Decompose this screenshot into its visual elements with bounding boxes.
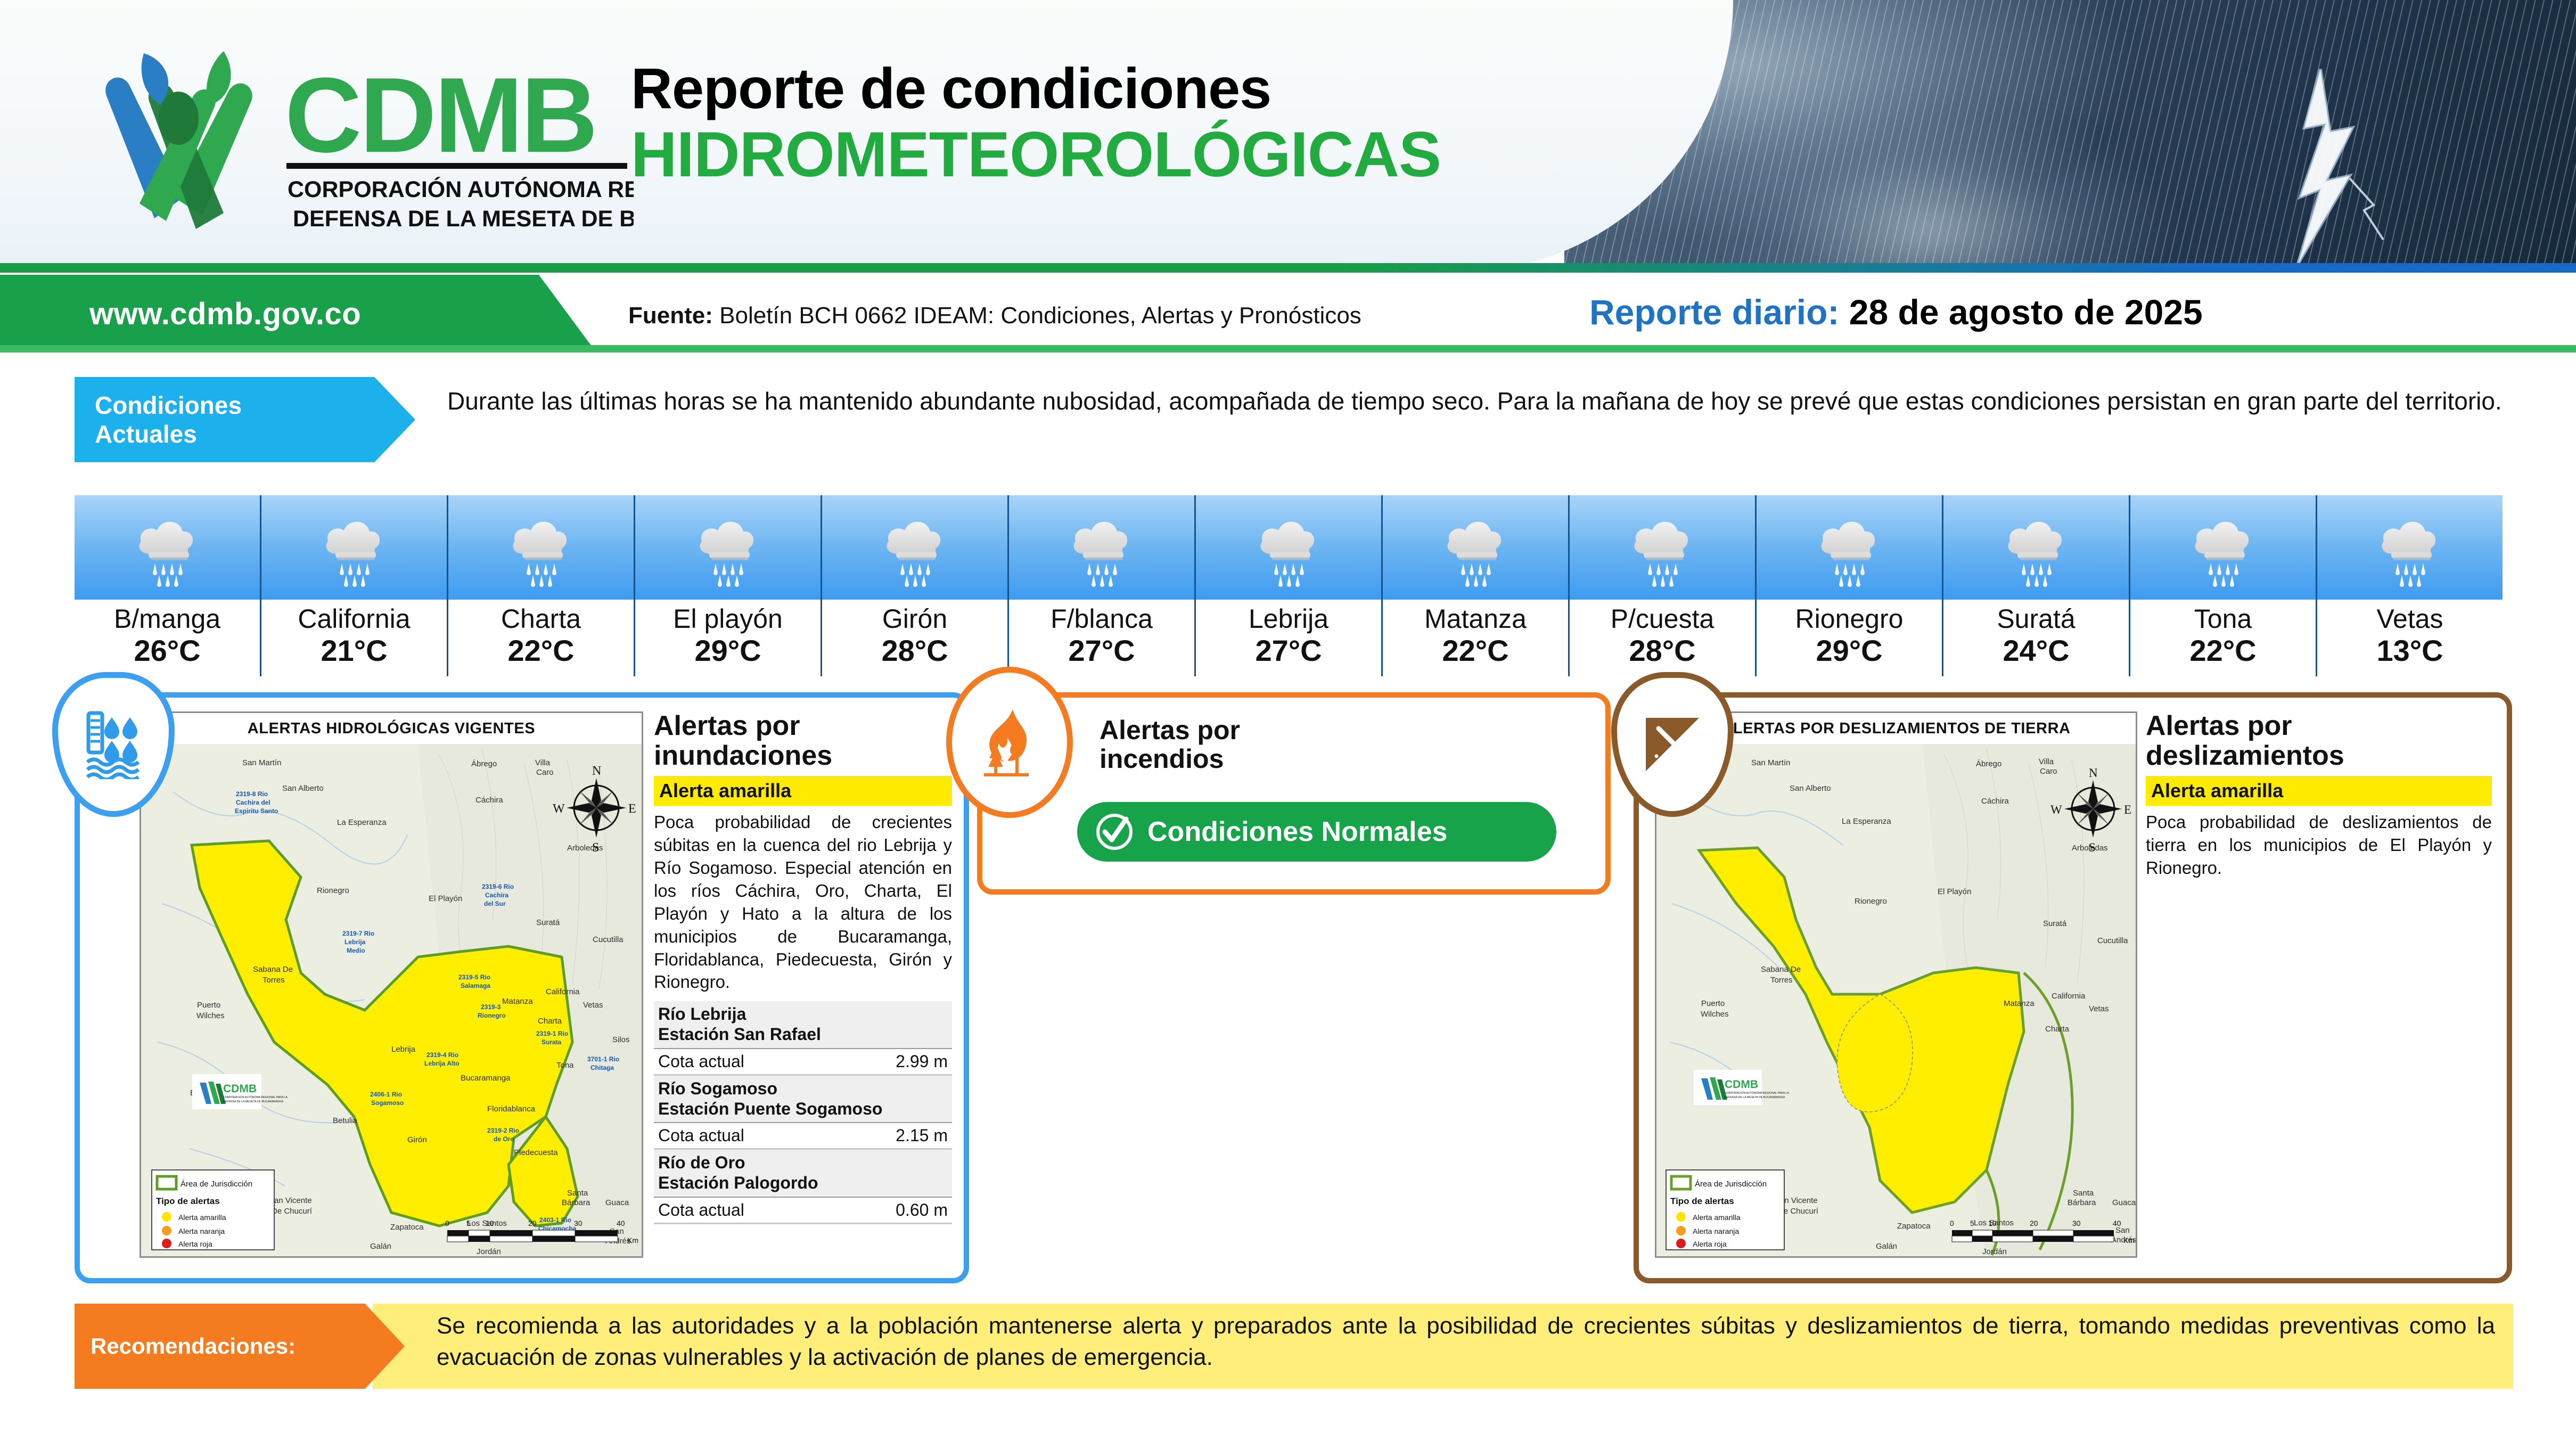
svg-text:La Esperanza: La Esperanza xyxy=(1842,817,1891,826)
weather-city-temp: 28°C xyxy=(881,635,948,667)
svg-text:Galán: Galán xyxy=(1876,1242,1897,1251)
weather-city-temp: 27°C xyxy=(1068,635,1135,667)
logo-subtitle-line1: CORPORACIÓN AUTÓNOMA REGIONAL PARA LA xyxy=(288,176,634,202)
report-date-value: 28 de agosto de 2025 xyxy=(1849,292,2203,332)
svg-text:Alerta amarilla: Alerta amarilla xyxy=(178,1213,226,1222)
svg-text:Villa: Villa xyxy=(2039,757,2054,766)
report-title-line2: HIDROMETEOROLÓGICAS xyxy=(631,121,1441,188)
svg-text:Cachira del: Cachira del xyxy=(236,799,270,806)
rain-cloud-icon xyxy=(1570,495,1755,600)
svg-text:2319-1 Rio: 2319-1 Rio xyxy=(536,1030,568,1037)
weather-cell: Tona22°C xyxy=(2130,495,2317,676)
svg-text:10: 10 xyxy=(486,1219,494,1227)
svg-text:Km: Km xyxy=(2123,1236,2135,1245)
rain-cloud-icon xyxy=(1757,495,1942,600)
svg-text:Bárbara: Bárbara xyxy=(562,1198,590,1207)
svg-text:CORPORACIÓN AUTÓNOMA REGIONAL: CORPORACIÓN AUTÓNOMA REGIONAL PARA LA xyxy=(223,1095,288,1099)
svg-text:Cucutilla: Cucutilla xyxy=(593,935,624,944)
weather-city-name: Tona xyxy=(2194,605,2252,633)
svg-text:Bárbara: Bárbara xyxy=(2068,1198,2096,1207)
landslide-card-body: Alertas por deslizamientos Alerta amaril… xyxy=(2146,711,2492,880)
svg-text:El Playón: El Playón xyxy=(429,894,462,903)
svg-text:Área de Jurisdicción: Área de Jurisdicción xyxy=(181,1180,252,1189)
svg-text:W: W xyxy=(553,802,565,816)
weather-city-temp: 22°C xyxy=(507,635,574,667)
logo-subtitle-line2: DEFENSA DE LA MESETA DE BUCARAMANGA xyxy=(293,206,634,232)
report-date-block: Reporte diario: 28 de agosto de 2025 xyxy=(1589,292,2203,332)
svg-text:Charta: Charta xyxy=(538,1017,562,1026)
report-title-line1: Reporte de condiciones xyxy=(631,59,1441,118)
landslide-card-description: Poca probabilidad de deslizamientos de t… xyxy=(2146,811,2492,880)
weather-city-temp: 26°C xyxy=(134,635,200,667)
svg-text:Guaca: Guaca xyxy=(2112,1198,2136,1207)
svg-text:30: 30 xyxy=(574,1219,583,1227)
svg-text:40: 40 xyxy=(617,1219,625,1227)
svg-text:3701-1 Rio: 3701-1 Rio xyxy=(587,1055,619,1063)
website-url[interactable]: www.cdmb.gov.co xyxy=(89,296,361,332)
svg-text:Bucaramanga: Bucaramanga xyxy=(461,1074,511,1083)
svg-text:De Chucurí: De Chucurí xyxy=(272,1207,313,1216)
river-station-value-row: Cota actual2.99 m xyxy=(654,1049,952,1075)
report-title-block: Reporte de condiciones HIDROMETEOROLÓGIC… xyxy=(631,59,1441,188)
svg-text:Zapatoca: Zapatoca xyxy=(1897,1222,1931,1231)
current-conditions-tag-line2: Actuales xyxy=(75,420,415,448)
weather-city-temp: 29°C xyxy=(694,635,761,667)
weather-cell: F/blanca27°C xyxy=(1009,495,1196,676)
cota-value: 2.15 m xyxy=(835,1123,952,1149)
svg-text:Floridablanca: Floridablanca xyxy=(487,1104,536,1114)
svg-text:2319-7 Rio: 2319-7 Rio xyxy=(342,930,374,937)
svg-text:Km: Km xyxy=(627,1236,638,1245)
weather-cell: California21°C xyxy=(261,495,448,676)
station-name: Estación Palogordo xyxy=(658,1173,818,1192)
svg-text:Silos: Silos xyxy=(612,1035,630,1044)
rain-cloud-icon xyxy=(1009,495,1194,600)
weather-cell: Lebrija27°C xyxy=(1196,495,1383,676)
rain-cloud-icon xyxy=(2130,495,2316,600)
landslide-map[interactable]: ALERTAS POR DESLIZAMIENTOS DE TIERRA xyxy=(1655,711,2137,1258)
svg-text:Santa: Santa xyxy=(2073,1189,2094,1198)
weather-city-name: Lebrija xyxy=(1249,605,1328,633)
svg-text:W: W xyxy=(2050,803,2062,816)
svg-text:Girón: Girón xyxy=(407,1135,427,1144)
flood-card-heading: Alertas por inundaciones xyxy=(654,711,952,771)
river-station-value-row: Cota actual0.60 m xyxy=(654,1197,952,1224)
svg-text:Tipo de alertas: Tipo de alertas xyxy=(156,1196,220,1206)
svg-text:Guaca: Guaca xyxy=(605,1198,629,1207)
svg-text:2319-2 Rio: 2319-2 Rio xyxy=(487,1127,519,1134)
svg-text:Jordán: Jordán xyxy=(1982,1247,2007,1256)
flood-map-canvas: San MartínÁbrego VillaCaro San AlbertoCá… xyxy=(141,744,642,1256)
svg-text:DEFENSA DE LA MESETA DE BUCARA: DEFENSA DE LA MESETA DE BUCARAMANGA xyxy=(223,1100,284,1103)
svg-text:Torres: Torres xyxy=(1770,976,1793,985)
weather-cell: Suratá24°C xyxy=(1943,495,2130,676)
weather-cell: Girón28°C xyxy=(822,495,1009,676)
svg-text:Villa: Villa xyxy=(535,758,551,767)
rain-cloud-icon xyxy=(1383,495,1568,600)
svg-text:Alerta amarilla: Alerta amarilla xyxy=(1693,1213,1741,1222)
rain-cloud-icon xyxy=(2317,495,2503,600)
weather-city-name: B/manga xyxy=(114,605,220,633)
svg-text:10: 10 xyxy=(1988,1219,1997,1227)
source-bar-underline xyxy=(0,345,2576,353)
svg-text:San Martín: San Martín xyxy=(1751,758,1790,767)
svg-text:Matanza: Matanza xyxy=(2004,999,2034,1008)
svg-text:5: 5 xyxy=(466,1219,471,1227)
flood-alert-card[interactable]: ALERTAS HIDROLÓGICAS VIGENTES xyxy=(75,692,969,1283)
weather-city-name: Rionegro xyxy=(1795,605,1904,633)
flood-card-description: Poca probabilidad de crecientes súbitas … xyxy=(654,811,952,994)
landslide-alert-card[interactable]: ALERTAS POR DESLIZAMIENTOS DE TIERRA xyxy=(1634,692,2512,1283)
weather-city-temp: 21°C xyxy=(321,635,387,667)
svg-text:Rionegro: Rionegro xyxy=(317,886,349,895)
weather-city-name: Matanza xyxy=(1424,605,1527,633)
svg-text:N: N xyxy=(592,764,601,778)
river-station-header-row: Río de OroEstación Palogordo xyxy=(654,1149,952,1197)
rain-cloud-icon xyxy=(261,495,447,600)
landslide-icon xyxy=(1640,713,1704,776)
svg-text:E: E xyxy=(2124,803,2131,816)
fire-status-pill[interactable]: Condiciones Normales xyxy=(1077,802,1556,862)
svg-text:Tipo de alertas: Tipo de alertas xyxy=(1670,1196,1734,1206)
svg-text:Ábrego: Ábrego xyxy=(1976,759,2001,768)
svg-text:Vetas: Vetas xyxy=(2089,1004,2109,1013)
current-conditions-text: Durante las últimas horas se ha mantenid… xyxy=(447,384,2513,417)
svg-text:40: 40 xyxy=(2113,1219,2121,1227)
flood-card-heading-line1: Alertas por xyxy=(654,710,800,741)
fire-card-heading: Alertas por incendios xyxy=(1100,716,1240,773)
svg-text:Cucutilla: Cucutilla xyxy=(2097,936,2128,945)
weather-cell: El playón29°C xyxy=(635,495,822,676)
source-text: Fuente: Boletín BCH 0662 IDEAM: Condicio… xyxy=(628,302,1361,329)
current-conditions-tag: Condiciones Actuales xyxy=(75,377,415,462)
current-conditions-tag-line1: Condiciones xyxy=(75,377,415,420)
svg-text:2319-6 Rio: 2319-6 Rio xyxy=(482,883,514,890)
svg-text:Alerta naranja: Alerta naranja xyxy=(1693,1227,1739,1235)
weather-cell: P/cuesta28°C xyxy=(1570,495,1757,676)
svg-text:Wilches: Wilches xyxy=(1701,1010,1729,1019)
svg-text:Alerta roja: Alerta roja xyxy=(1693,1240,1727,1248)
svg-text:San Martín: San Martín xyxy=(242,758,281,767)
cota-label: Cota actual xyxy=(654,1123,835,1149)
svg-text:Vetas: Vetas xyxy=(583,1001,603,1010)
flood-card-body: Alertas por inundaciones Alerta amarilla… xyxy=(654,711,952,1224)
svg-text:DEFENSA DE LA MESETA DE BUCARA: DEFENSA DE LA MESETA DE BUCARAMANGA xyxy=(1725,1096,1785,1099)
svg-text:Sogamoso: Sogamoso xyxy=(371,1099,404,1107)
svg-text:Surata: Surata xyxy=(542,1038,562,1046)
landslide-map-legend: Área de Jurisdicción Tipo de alertas Ale… xyxy=(1666,1170,1784,1250)
svg-text:2406-1 Rio: 2406-1 Rio xyxy=(370,1091,402,1098)
svg-text:Torres: Torres xyxy=(262,976,285,985)
river-name: Río Lebrija xyxy=(658,1004,746,1024)
svg-text:Caro: Caro xyxy=(536,768,554,777)
svg-text:California: California xyxy=(546,987,580,996)
landslide-card-heading: Alertas por deslizamientos xyxy=(2146,711,2492,771)
svg-text:CDMB: CDMB xyxy=(223,1083,257,1095)
river-station-header-row: Río SogamosoEstación Puente Sogamoso xyxy=(654,1075,952,1123)
flood-card-heading-line2: inundaciones xyxy=(654,740,832,771)
landslide-alert-level-badge: Alerta amarilla xyxy=(2146,776,2492,806)
svg-text:Rionegro: Rionegro xyxy=(478,1012,506,1019)
water-level-gauge-icon xyxy=(84,710,143,779)
cota-label: Cota actual xyxy=(654,1049,835,1075)
svg-text:California: California xyxy=(2052,992,2086,1001)
weather-city-temp: 28°C xyxy=(1629,635,1695,667)
svg-text:Betulia: Betulia xyxy=(333,1116,358,1125)
source-value: Boletín BCH 0662 IDEAM: Condiciones, Ale… xyxy=(719,302,1361,329)
svg-text:CDMB: CDMB xyxy=(1725,1078,1758,1091)
svg-text:La Esperanza: La Esperanza xyxy=(337,818,387,827)
rain-cloud-icon xyxy=(635,495,821,600)
recommendations-text: Se recomienda a las autoridades y a la p… xyxy=(437,1310,2495,1373)
header-accent-bar xyxy=(0,263,2576,273)
svg-text:San Alberto: San Alberto xyxy=(1790,784,1831,793)
station-name: Estación San Rafael xyxy=(658,1025,821,1044)
svg-text:Galán: Galán xyxy=(370,1242,391,1251)
cota-value: 2.99 m xyxy=(835,1049,952,1075)
svg-text:5: 5 xyxy=(1970,1219,1974,1227)
svg-text:2403-1 Rio: 2403-1 Rio xyxy=(539,1216,571,1224)
svg-text:20: 20 xyxy=(2030,1219,2038,1227)
svg-text:20: 20 xyxy=(528,1219,537,1227)
svg-text:San Alberto: San Alberto xyxy=(282,784,324,793)
weather-cell: Matanza22°C xyxy=(1383,495,1570,676)
svg-text:Espiritu Santo: Espiritu Santo xyxy=(235,807,278,815)
svg-text:Jordán: Jordán xyxy=(477,1247,501,1256)
svg-text:Matanza: Matanza xyxy=(502,997,533,1006)
weather-city-name: Vetas xyxy=(2376,605,2443,633)
svg-text:San Vicente: San Vicente xyxy=(269,1196,312,1205)
svg-text:del Sur: del Sur xyxy=(484,900,506,907)
lightning-bolt-icon xyxy=(2241,64,2400,266)
rain-cloud-icon xyxy=(1943,495,2129,600)
flood-map-title: ALERTAS HIDROLÓGICAS VIGENTES xyxy=(141,713,642,744)
alert-cards-row: ALERTAS HIDROLÓGICAS VIGENTES xyxy=(0,686,2576,1282)
svg-text:Alerta roja: Alerta roja xyxy=(178,1240,212,1248)
page-header: CDMB CORPORACIÓN AUTÓNOMA REGIONAL PARA … xyxy=(0,0,2576,273)
svg-text:S: S xyxy=(2089,841,2096,854)
weather-cell: Vetas13°C xyxy=(2317,495,2503,676)
svg-text:Puerto: Puerto xyxy=(197,1001,220,1010)
weather-city-name: California xyxy=(298,605,410,633)
svg-text:CDMB: CDMB xyxy=(285,56,596,175)
rain-cloud-icon xyxy=(822,495,1007,600)
svg-text:N: N xyxy=(2089,766,2098,780)
svg-text:Medio: Medio xyxy=(347,947,365,954)
recommendations-tag-label: Recomendaciones: xyxy=(75,1333,296,1359)
flood-map[interactable]: ALERTAS HIDROLÓGICAS VIGENTES xyxy=(140,711,643,1258)
weather-city-name: Charta xyxy=(501,605,581,633)
cota-value: 0.60 m xyxy=(835,1197,952,1224)
svg-text:Lebrija Alto: Lebrija Alto xyxy=(424,1060,460,1067)
cota-label: Cota actual xyxy=(654,1197,835,1224)
svg-text:Salamaga: Salamaga xyxy=(461,982,490,989)
svg-text:Wilches: Wilches xyxy=(196,1011,225,1020)
recommendations-tag: Recomendaciones: xyxy=(75,1304,405,1389)
weather-city-name: F/blanca xyxy=(1051,605,1153,633)
weather-city-name: Suratá xyxy=(1997,605,2075,633)
flood-map-legend: Área de Jurisdicción Tipo de alertas Ale… xyxy=(152,1170,274,1250)
svg-text:Cáchira: Cáchira xyxy=(1981,797,2009,806)
weather-city-name: Girón xyxy=(882,605,947,633)
svg-text:2319-4 Rio: 2319-4 Rio xyxy=(426,1051,458,1059)
landslide-card-heading-line2: deslizamientos xyxy=(2146,740,2344,771)
weather-city-temp: 22°C xyxy=(2189,635,2256,667)
svg-text:0: 0 xyxy=(1950,1219,1954,1227)
svg-text:Suratá: Suratá xyxy=(536,918,560,927)
current-conditions-section: Condiciones Actuales Durante las últimas… xyxy=(75,377,2513,462)
svg-text:Sabana De: Sabana De xyxy=(253,965,293,974)
svg-text:Área de Jurisdicción: Área de Jurisdicción xyxy=(1695,1180,1767,1189)
recommendations-body: Se recomienda a las autoridades y a la p… xyxy=(373,1304,2513,1389)
svg-text:Cáchira: Cáchira xyxy=(475,796,503,805)
svg-text:Zapatoca: Zapatoca xyxy=(390,1223,424,1232)
river-station-header-row: Río LebrijaEstación San Rafael xyxy=(654,1001,952,1049)
svg-text:Lebrija: Lebrija xyxy=(391,1045,416,1054)
svg-text:S: S xyxy=(592,841,599,855)
source-label: Fuente: xyxy=(628,302,713,329)
flood-alert-level-badge: Alerta amarilla xyxy=(654,776,952,806)
fire-card-heading-line2: incendios xyxy=(1100,744,1224,774)
landslide-card-heading-line1: Alertas por xyxy=(2146,710,2292,741)
river-name: Río Sogamoso xyxy=(658,1079,777,1098)
fire-forest-icon xyxy=(978,705,1041,780)
svg-text:Caro: Caro xyxy=(2040,767,2057,776)
svg-text:E: E xyxy=(628,802,636,816)
station-name: Estación Puente Sogamoso xyxy=(658,1099,882,1118)
svg-text:0: 0 xyxy=(445,1219,449,1227)
weather-city-name: El playón xyxy=(673,605,783,633)
svg-text:Alerta naranja: Alerta naranja xyxy=(178,1227,225,1235)
svg-text:Puerto: Puerto xyxy=(1701,999,1725,1008)
svg-text:Cachira: Cachira xyxy=(485,891,508,899)
fire-badge xyxy=(946,667,1073,818)
svg-text:Santa: Santa xyxy=(567,1189,588,1198)
rain-cloud-icon xyxy=(75,495,260,600)
weather-city-temp: 24°C xyxy=(2003,635,2069,667)
weather-city-temp: 27°C xyxy=(1255,635,1322,667)
report-date-label: Reporte diario: xyxy=(1589,292,1839,332)
svg-text:Lebrija: Lebrija xyxy=(344,938,366,946)
rain-cloud-icon xyxy=(448,495,634,600)
svg-text:Tona: Tona xyxy=(556,1061,574,1070)
fire-card-heading-line1: Alertas por xyxy=(1100,715,1240,745)
river-name: Río de Oro xyxy=(658,1153,745,1172)
svg-text:Suratá: Suratá xyxy=(2043,919,2067,928)
river-station-value-row: Cota actual2.15 m xyxy=(654,1123,952,1149)
svg-text:2319-3: 2319-3 xyxy=(481,1003,501,1011)
weather-cell: Rionegro29°C xyxy=(1757,495,1943,676)
svg-text:Ábrego: Ábrego xyxy=(471,759,497,768)
svg-text:de Oro: de Oro xyxy=(494,1135,514,1143)
rain-cloud-icon xyxy=(1196,495,1381,600)
check-circle-icon xyxy=(1093,811,1136,853)
fire-alert-card[interactable]: Alertas por incendios Condiciones Normal… xyxy=(977,692,1611,895)
svg-text:El Playón: El Playón xyxy=(1938,887,1971,896)
svg-text:Chitaga: Chitaga xyxy=(590,1064,614,1071)
svg-text:CORPORACIÓN AUTÓNOMA REGIONAL: CORPORACIÓN AUTÓNOMA REGIONAL PARA LA xyxy=(1725,1091,1789,1095)
weather-strip: B/manga26°C California21°C C xyxy=(75,495,2503,676)
weather-cell: Charta22°C xyxy=(448,495,635,676)
svg-text:Charta: Charta xyxy=(2045,1025,2070,1034)
svg-text:30: 30 xyxy=(2072,1219,2081,1227)
weather-city-temp: 13°C xyxy=(2376,635,2443,667)
svg-text:Rionegro: Rionegro xyxy=(1855,897,1887,906)
weather-cell: B/manga26°C xyxy=(75,495,261,676)
landslide-map-canvas: San MartínÁbrego VillaCaro San AlbertoCá… xyxy=(1656,744,2136,1256)
svg-text:Sabana De: Sabana De xyxy=(1761,965,1801,974)
svg-text:2319-8 Rio: 2319-8 Rio xyxy=(236,790,268,798)
recommendations-section: Se recomienda a las autoridades y a la p… xyxy=(75,1304,2513,1389)
svg-text:Piedecuesta: Piedecuesta xyxy=(514,1148,558,1157)
river-stations-table: Río LebrijaEstación San RafaelCota actua… xyxy=(654,1001,952,1224)
weather-city-name: P/cuesta xyxy=(1611,605,1714,633)
svg-text:2319-5 Rio: 2319-5 Rio xyxy=(458,973,490,981)
weather-city-temp: 29°C xyxy=(1816,635,1882,667)
weather-city-temp: 22°C xyxy=(1442,635,1508,667)
source-bar: www.cdmb.gov.co Fuente: Boletín BCH 0662… xyxy=(0,275,2576,353)
fire-status-label: Condiciones Normales xyxy=(1147,816,1447,848)
cdmb-logo: CDMB CORPORACIÓN AUTÓNOMA REGIONAL PARA … xyxy=(69,37,634,245)
